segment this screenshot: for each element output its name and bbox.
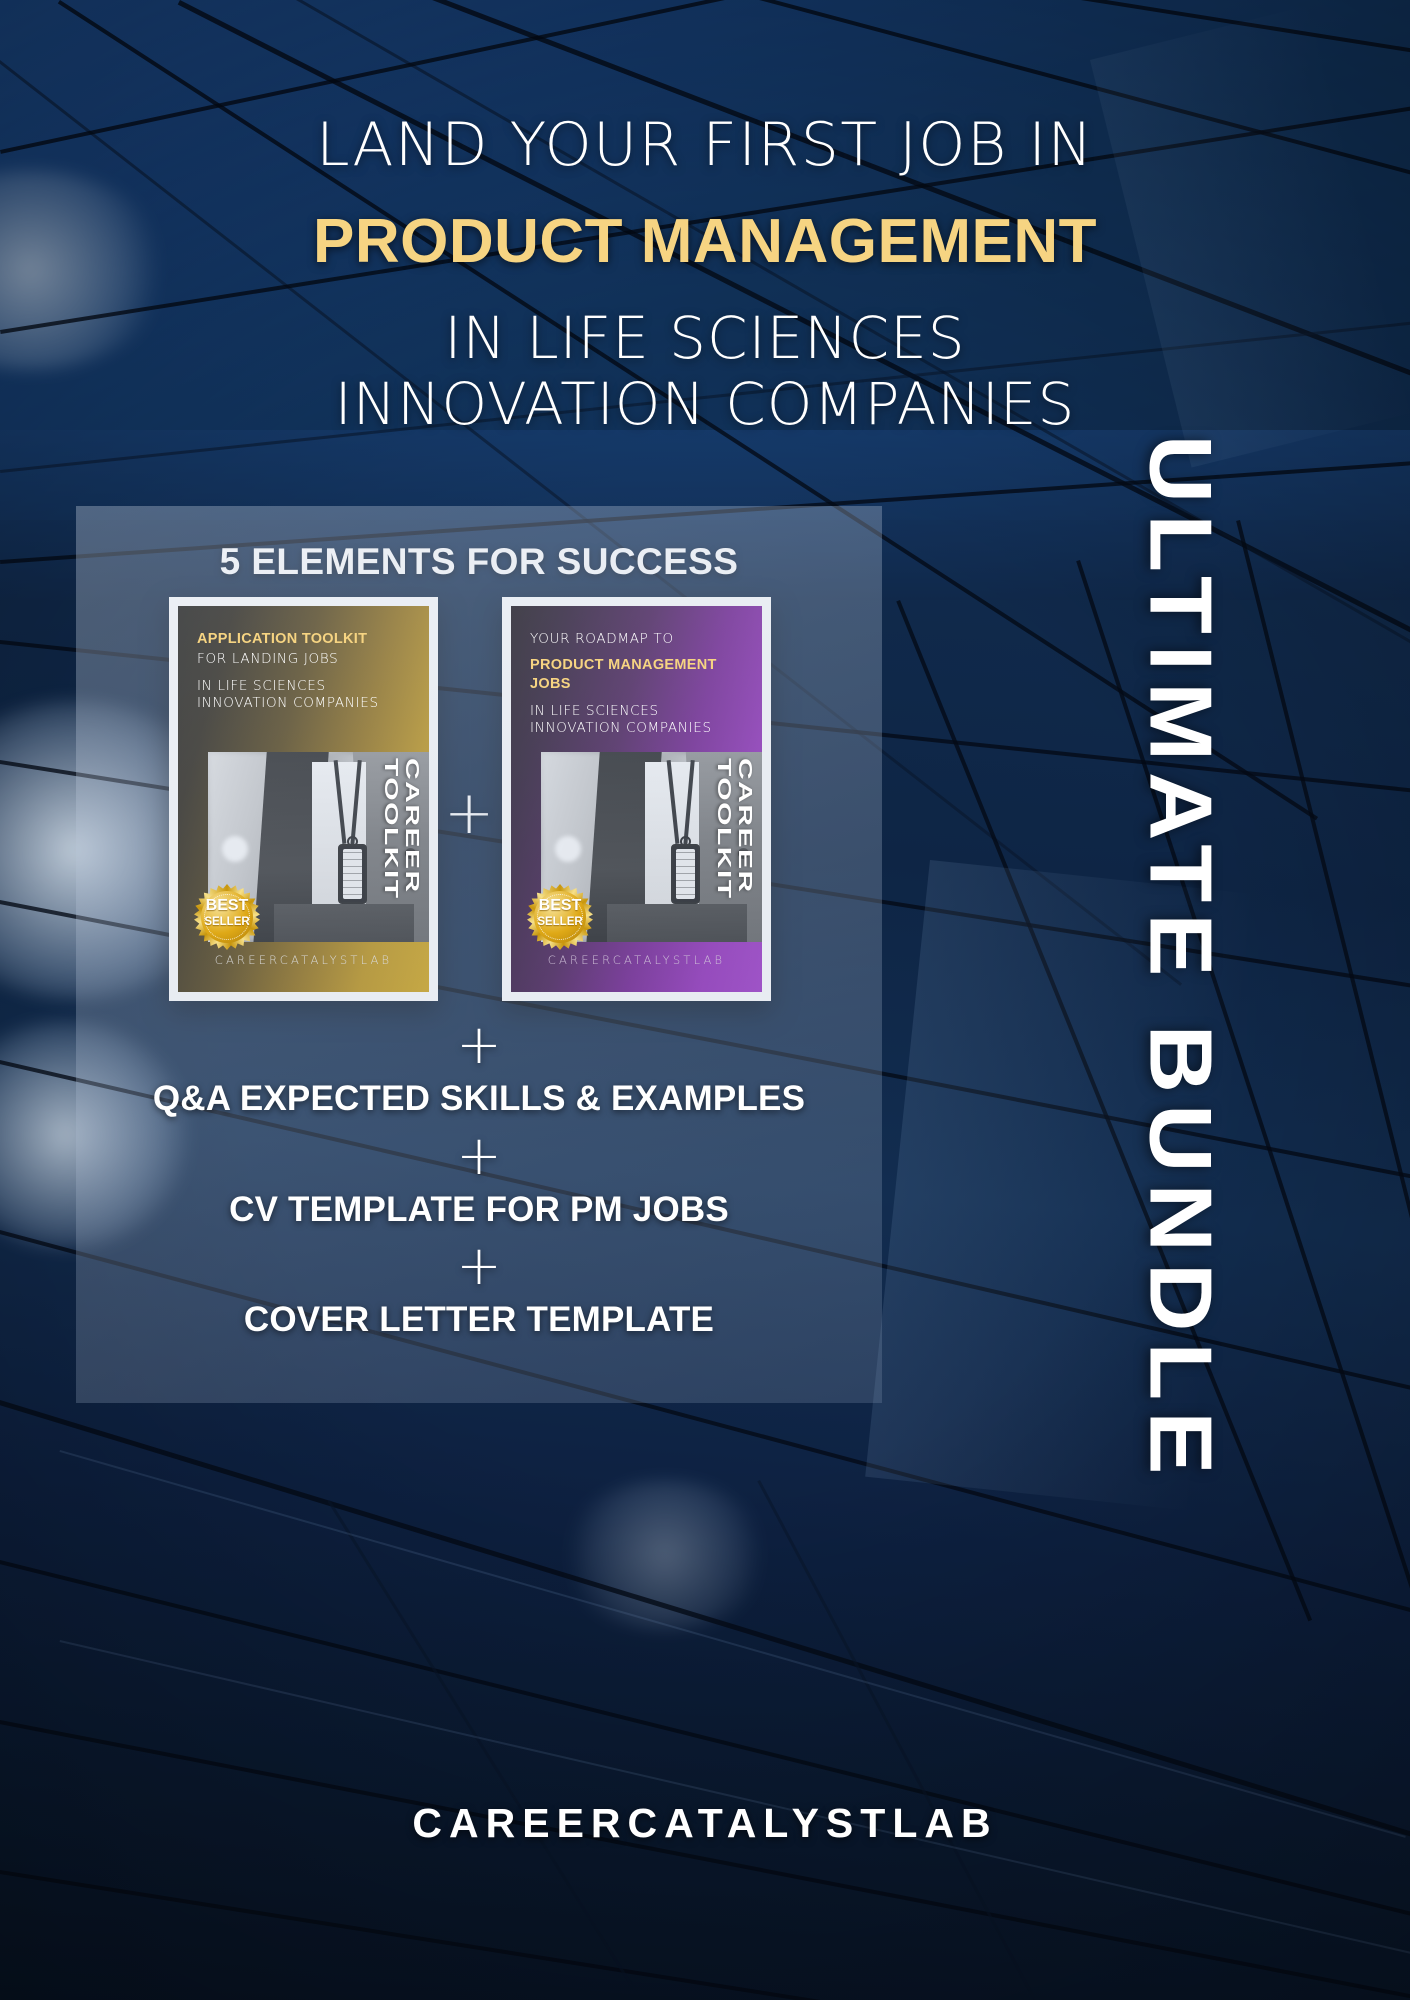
- best-seller-badge: BEST SELLER: [194, 884, 260, 950]
- feature-item-cover-letter: COVER LETTER TEMPLATE: [76, 1301, 882, 1340]
- badge-text: BEST SELLER: [527, 898, 593, 929]
- cover-pre-line: YOUR ROADMAP TO: [530, 630, 748, 650]
- plus-separator-1: +: [76, 1018, 882, 1072]
- headline-line-1: LAND YOUR FIRST JOB IN: [0, 110, 1410, 180]
- headline-line-2-highlight: PRODUCT MANAGEMENT: [0, 206, 1410, 277]
- badge-text: BEST SELLER: [194, 898, 260, 929]
- badge-text-line2: SELLER: [527, 917, 593, 929]
- poster-header: LAND YOUR FIRST JOB IN PRODUCT MANAGEMEN…: [0, 0, 1410, 437]
- features-list: + Q&A EXPECTED SKILLS & EXAMPLES + CV TE…: [76, 1008, 882, 1340]
- cover-strong-line-b: JOBS: [530, 675, 748, 694]
- cover-sub-line-a: IN LIFE SCIENCES: [197, 678, 415, 695]
- cover-sub-line-b: INNOVATION COMPANIES: [197, 695, 415, 712]
- cover-pre-line: FOR LANDING JOBS: [197, 650, 415, 670]
- feature-item-cv-template: CV TEMPLATE FOR PM JOBS: [76, 1191, 882, 1230]
- footer-brand: CAREERCATALYSTLAB: [0, 1800, 1410, 1847]
- cover-brand: CAREERCATALYSTLAB: [178, 953, 429, 967]
- feature-item-qa: Q&A EXPECTED SKILLS & EXAMPLES: [76, 1080, 882, 1119]
- cover-brand: CAREERCATALYSTLAB: [511, 953, 762, 967]
- cover-sub-line-b: INNOVATION COMPANIES: [530, 720, 748, 737]
- cover-title-block: APPLICATION TOOLKIT FOR LANDING JOBS IN …: [197, 630, 415, 713]
- cover-title-block: YOUR ROADMAP TO PRODUCT MANAGEMENT JOBS …: [530, 630, 748, 737]
- best-seller-badge: BEST SELLER: [527, 884, 593, 950]
- cover-strong-line: APPLICATION TOOLKIT: [197, 630, 415, 649]
- cover-sub-line-a: IN LIFE SCIENCES: [530, 703, 748, 720]
- badge-text-line1: BEST: [527, 898, 593, 914]
- headline-line-3a: IN LIFE SCIENCES: [0, 305, 1410, 371]
- plus-separator-3: +: [76, 1239, 882, 1293]
- ultimate-bundle-side-label: ULTIMATE BUNDLE: [1000, 520, 1360, 1400]
- headline-line-3b: INNOVATION COMPANIES: [0, 371, 1410, 437]
- cover-strong-line-a: PRODUCT MANAGEMENT: [530, 656, 748, 675]
- poster-canvas: LAND YOUR FIRST JOB IN PRODUCT MANAGEMEN…: [0, 0, 1410, 2000]
- plus-separator-2: +: [76, 1129, 882, 1183]
- headline-line-3: IN LIFE SCIENCES INNOVATION COMPANIES: [0, 305, 1410, 437]
- badge-text-line2: SELLER: [194, 917, 260, 929]
- badge-text-line1: BEST: [194, 898, 260, 914]
- ultimate-bundle-text: ULTIMATE BUNDLE: [1129, 435, 1231, 1486]
